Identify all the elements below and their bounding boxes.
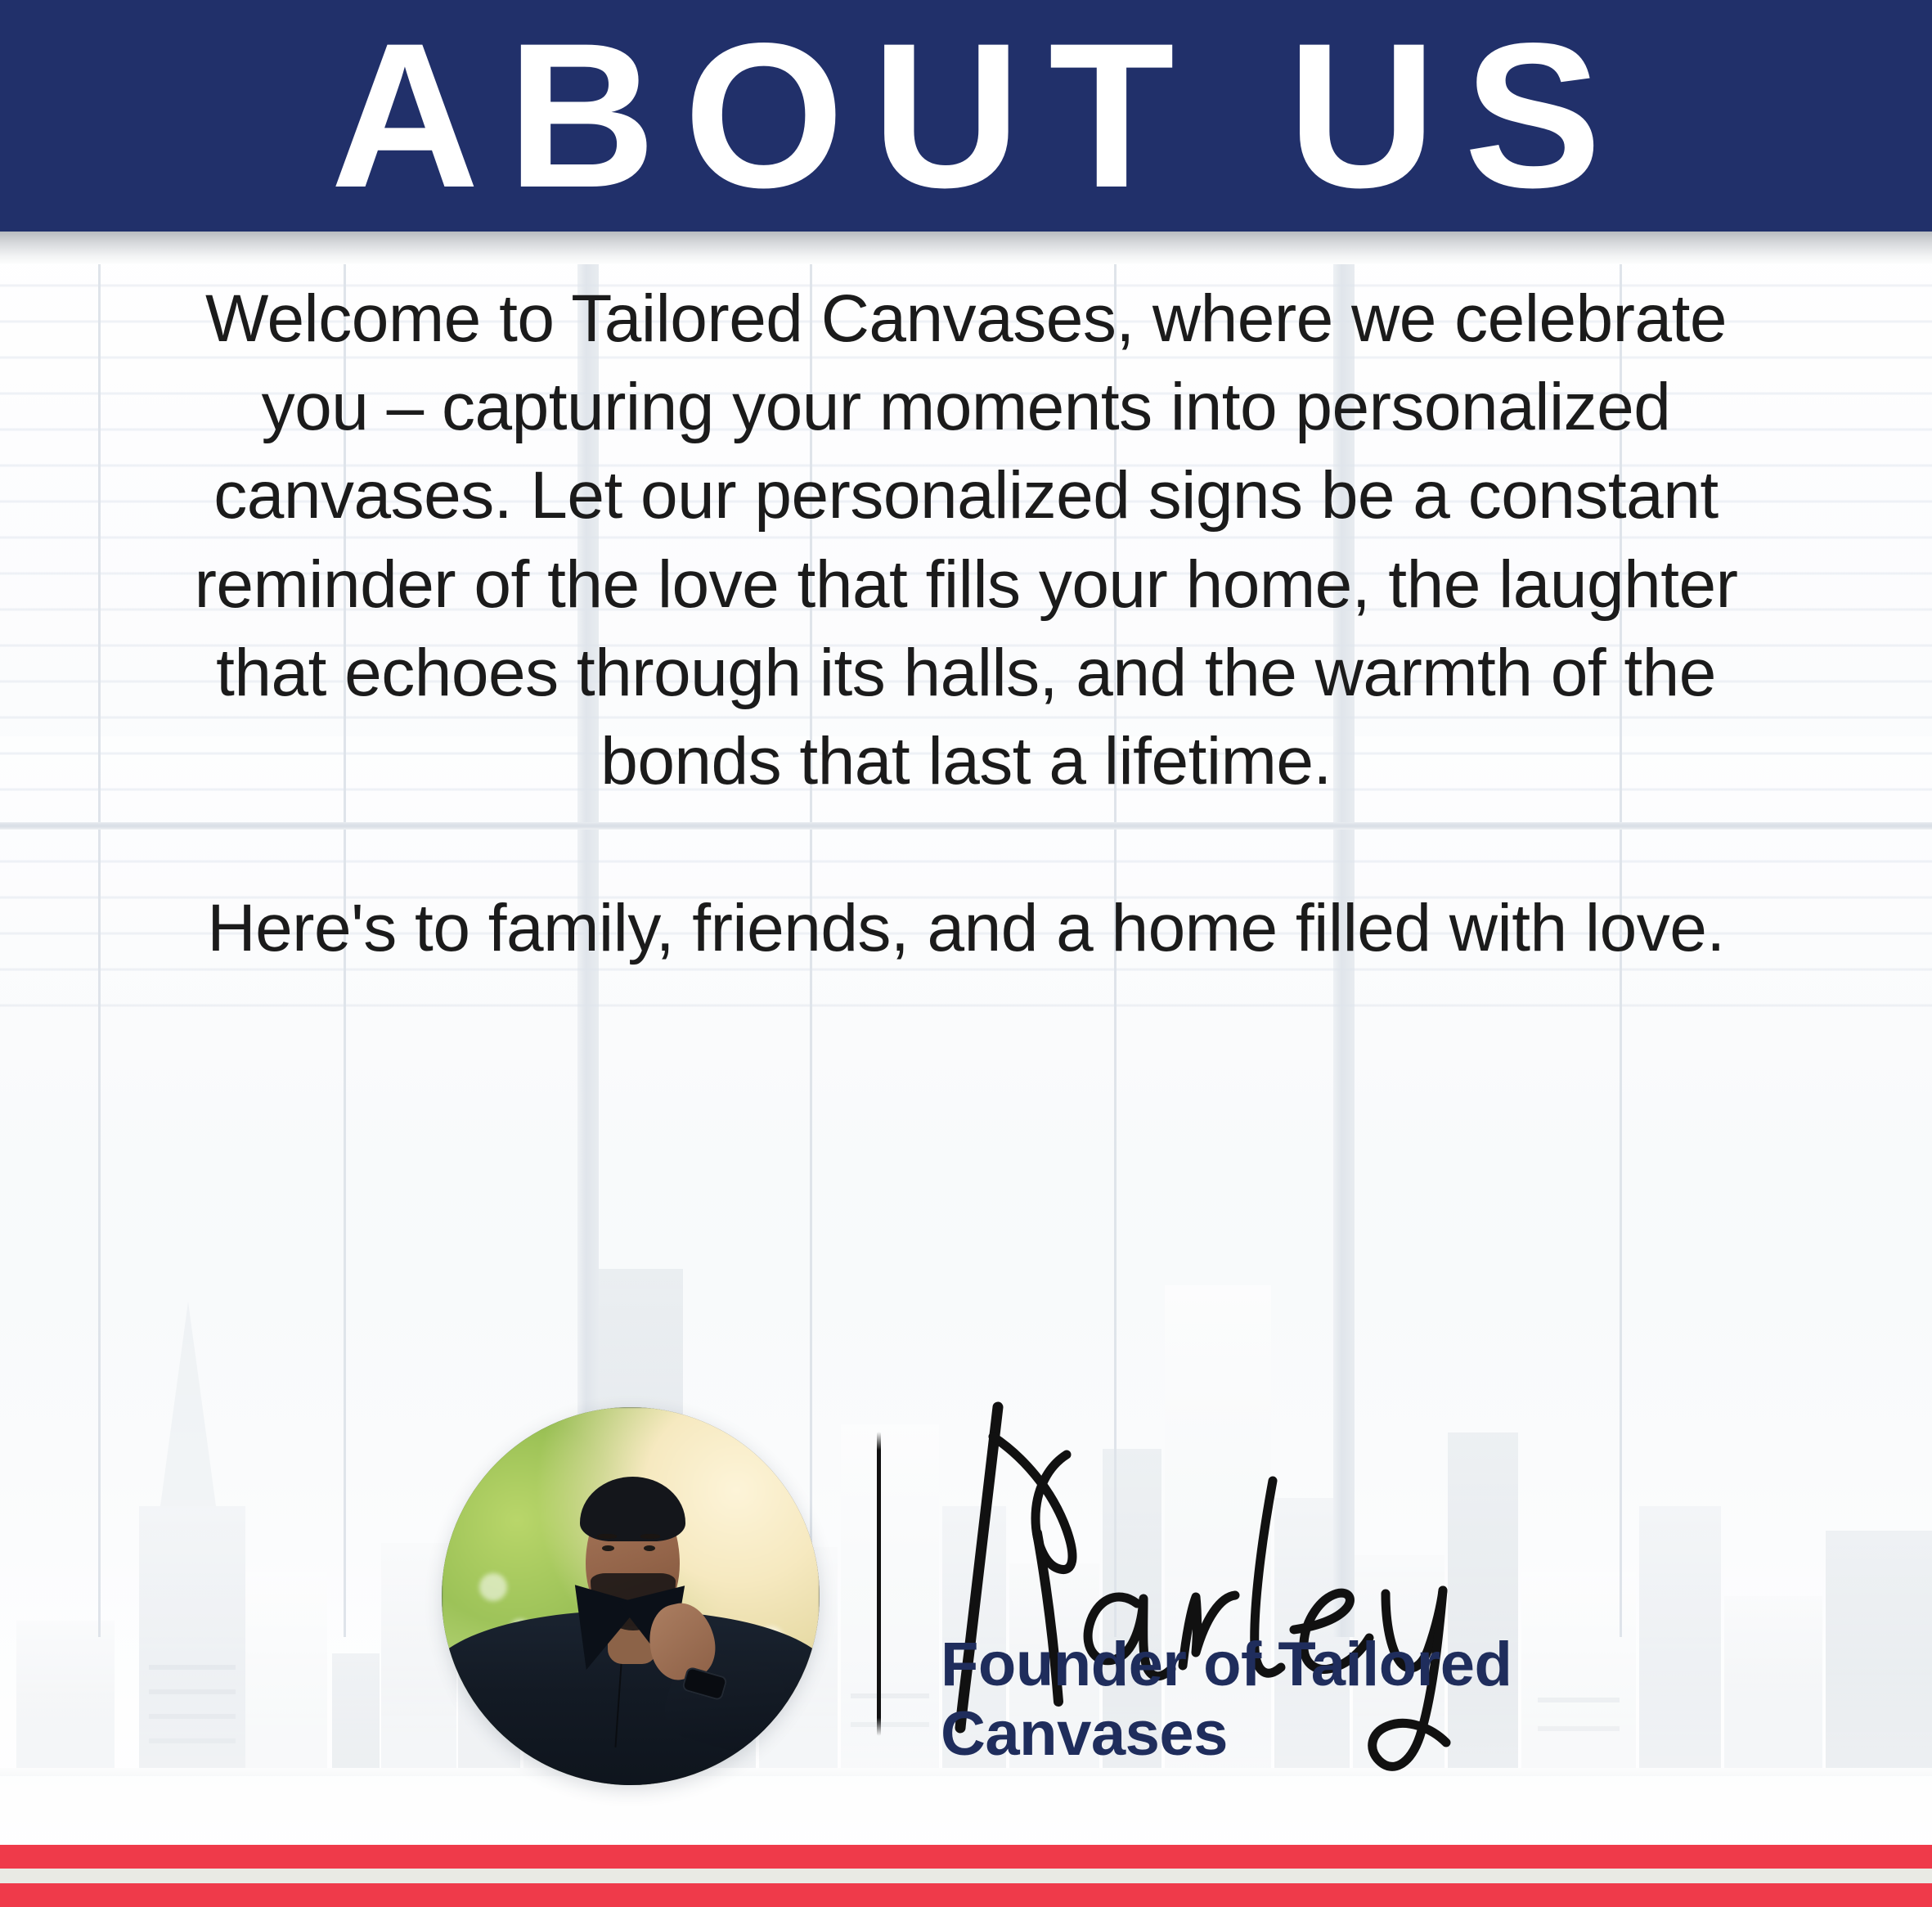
founder-role: Founder of Tailored Canvases <box>941 1630 1677 1769</box>
paragraph-spacer <box>164 806 1768 884</box>
avatar <box>442 1407 820 1785</box>
footer-stripe-red-top <box>0 1845 1932 1869</box>
blinds-header-bar <box>0 232 1932 264</box>
avatar-eyebrow <box>640 1534 660 1539</box>
founder-role-line-1: Founder of Tailored <box>941 1630 1677 1699</box>
founder-role-line-2: Canvases <box>941 1699 1677 1769</box>
vertical-divider <box>877 1432 881 1736</box>
about-us-header-banner: ABOUT US <box>0 0 1932 232</box>
avatar-eye <box>602 1545 613 1551</box>
avatar-eyebrow <box>597 1534 617 1539</box>
paragraph-welcome: Welcome to Tailored Canvases, where we c… <box>164 275 1768 806</box>
paragraph-closing: Here's to family, friends, and a home fi… <box>164 884 1768 973</box>
about-us-body-copy: Welcome to Tailored Canvases, where we c… <box>0 275 1932 974</box>
footer-stripe-light <box>0 1869 1932 1883</box>
footer-stripe-red-bottom <box>0 1883 1932 1907</box>
founder-block: Founder of Tailored Canvases <box>0 1391 1932 1816</box>
page-title: ABOUT US <box>303 13 1629 219</box>
